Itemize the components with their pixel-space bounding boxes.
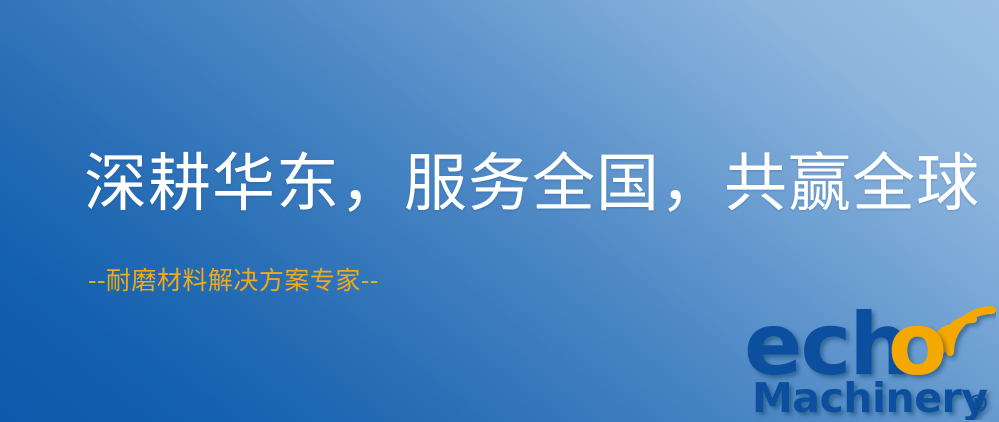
registered-trademark-icon: ® xyxy=(966,390,990,418)
echo-machinery-logo: ech o Machinery ® xyxy=(744,292,996,420)
promotional-banner: 深耕华东，服务全国，共赢全球 --耐磨材料解决方案专家-- ech o Mach… xyxy=(0,0,999,422)
banner-subtitle: --耐磨材料解决方案专家-- xyxy=(88,268,379,293)
logo-tagline: Machinery xyxy=(752,374,987,420)
banner-headline: 深耕华东，服务全国，共赢全球 xyxy=(84,152,980,215)
